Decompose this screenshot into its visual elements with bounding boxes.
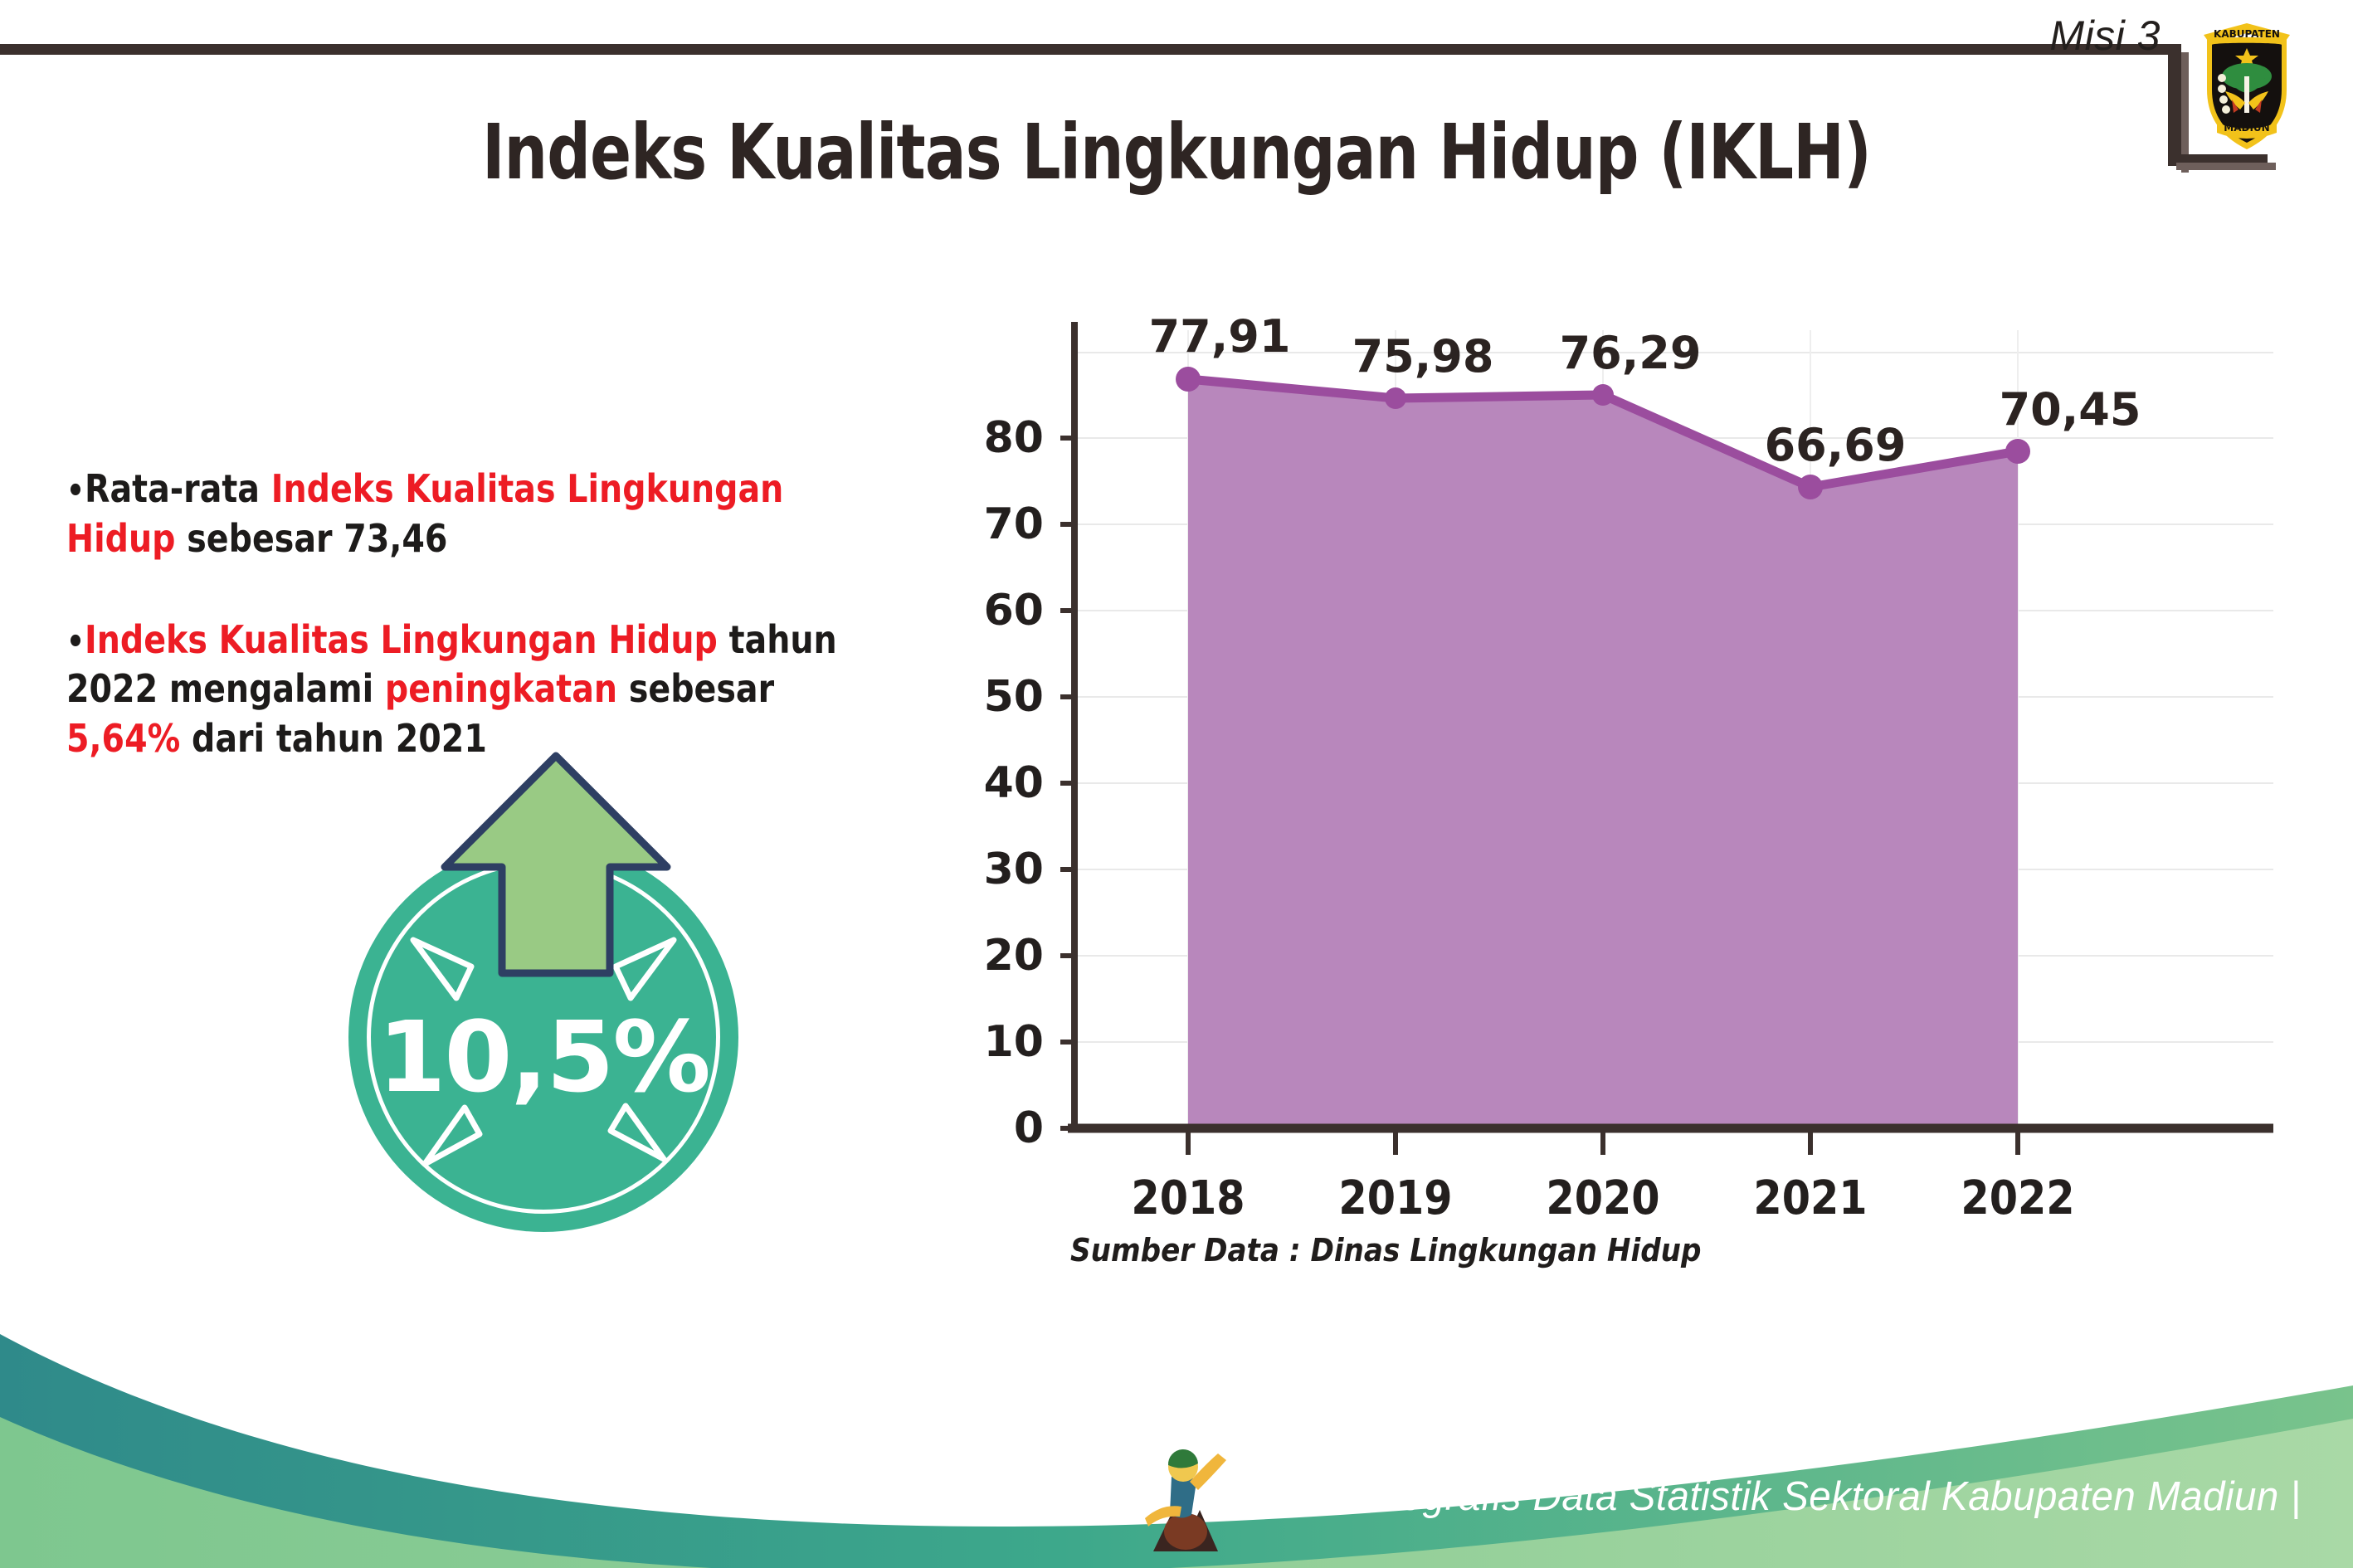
data-label: 76,29 — [1527, 327, 1734, 379]
area-fill — [1188, 379, 2018, 1128]
y-tick-label: 70 — [944, 499, 1044, 549]
y-tick-label: 60 — [944, 586, 1044, 635]
increase-badge: 10,5% — [324, 751, 755, 1215]
y-tick-label: 20 — [944, 931, 1044, 981]
header-rule — [0, 44, 2170, 55]
data-label: 77,91 — [1116, 310, 1323, 363]
x-tick-label: 2018 — [1100, 1171, 1275, 1225]
bullet-segment: sebesar — [617, 666, 774, 711]
bullet-marker: • — [66, 472, 85, 510]
badge-percent-value: 10,5% — [348, 1000, 738, 1114]
y-tick-label: 30 — [944, 845, 1044, 894]
y-tick-label: 0 — [944, 1103, 1044, 1153]
x-tick-label: 2020 — [1515, 1171, 1690, 1225]
y-tick-label: 80 — [944, 413, 1044, 463]
y-tick-label: 10 — [944, 1017, 1044, 1067]
svg-text:MADIUN: MADIUN — [2224, 122, 2269, 134]
y-tick-label: 40 — [944, 758, 1044, 808]
page-title: Indeks Kualitas Lingkungan Hidup (IKLH) — [236, 108, 2118, 197]
header-bracket-foot-shadow — [2176, 163, 2276, 170]
up-arrow-icon — [440, 751, 672, 991]
kabupaten-madiun-emblem-icon: KABUPATEN MADIUN — [2189, 7, 2305, 156]
bullet-marker: • — [66, 623, 85, 661]
data-label: 66,69 — [1732, 419, 1939, 471]
misi-label: Misi 3 — [2049, 12, 2161, 60]
infographic-slide: Misi 3 KABUPATEN MADIUN Indeks Kualitas … — [0, 0, 2353, 1568]
bullet-segment-highlight: peningkatan — [385, 666, 617, 711]
footer-caption: Media Infografis Data Statistik Sektoral… — [1235, 1473, 2301, 1520]
x-tick-label: 2019 — [1308, 1171, 1483, 1225]
y-tick-label: 50 — [944, 672, 1044, 722]
x-tick-label: 2022 — [1930, 1171, 2105, 1225]
list-item: •Indeks Kualitas Lingkungan Hidup tahun … — [66, 616, 851, 764]
chart-source-label: Sumber Data : Dinas Lingkungan Hidup — [1070, 1232, 1702, 1269]
bullet-segment-highlight: 5,64% — [66, 716, 180, 761]
bullet-segment-highlight: Indeks Kualitas Lingkungan Hidup — [85, 617, 718, 662]
svg-text:KABUPATEN: KABUPATEN — [2214, 28, 2280, 40]
list-item: •Rata-rata Indeks Kualitas Lingkungan Hi… — [66, 465, 851, 564]
header-vertical-bar — [2168, 44, 2181, 164]
person-figure-icon — [1138, 1445, 1230, 1557]
x-tick-label: 2021 — [1722, 1171, 1898, 1225]
bullet-segment: sebesar 73,46 — [175, 516, 447, 561]
iklh-area-chart: 80 70 60 50 40 30 20 10 0 2018 2019 2020… — [979, 290, 2273, 1203]
data-label: 70,45 — [1966, 383, 2174, 436]
bullet-segment: Rata-rata — [85, 466, 271, 511]
data-label: 75,98 — [1319, 330, 1527, 382]
